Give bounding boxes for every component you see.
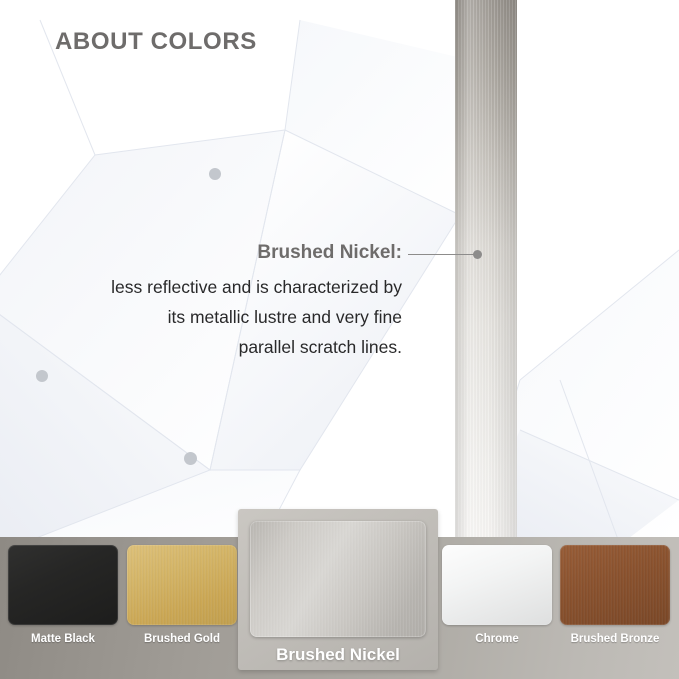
callout-text-block: Brushed Nickel: less reflective and is c…	[16, 240, 402, 362]
page-title: ABOUT COLORS	[55, 28, 257, 56]
swatch-label-brushed-bronze: Brushed Bronze	[560, 633, 670, 645]
swatch-chip-brushed-gold[interactable]	[127, 545, 237, 625]
swatch-brushed-bronze[interactable]: Brushed Bronze	[560, 545, 670, 655]
polygon-node	[184, 452, 197, 465]
swatch-label-chrome: Chrome	[442, 633, 552, 645]
strip-shading-overlay	[455, 0, 517, 538]
callout-leader-line	[408, 254, 478, 255]
swatch-label-brushed-nickel: Brushed Nickel	[238, 645, 438, 665]
swatch-chrome[interactable]: Chrome	[442, 545, 552, 655]
callout-line-3: parallel scratch lines.	[16, 332, 402, 362]
color-swatch-bar: Matte Black Brushed Gold Brushed Nickel …	[0, 537, 679, 679]
callout-description: less reflective and is characterized by …	[16, 272, 402, 362]
polygon-node	[36, 370, 48, 382]
swatch-brushed-gold[interactable]: Brushed Gold	[127, 545, 237, 655]
swatch-chip-chrome[interactable]	[442, 545, 552, 625]
polygon-node	[209, 168, 221, 180]
swatch-chip-matte-black[interactable]	[8, 545, 118, 625]
swatch-chip-brushed-nickel[interactable]	[250, 521, 426, 637]
brushed-nickel-sample-strip	[455, 0, 517, 538]
callout-leader-dot	[473, 250, 482, 259]
callout-line-2: its metallic lustre and very fine	[16, 302, 402, 332]
swatch-label-brushed-gold: Brushed Gold	[127, 633, 237, 645]
swatch-brushed-nickel-selected[interactable]: Brushed Nickel	[238, 509, 438, 670]
swatch-label-matte-black: Matte Black	[8, 633, 118, 645]
swatch-matte-black[interactable]: Matte Black	[8, 545, 118, 655]
callout-line-1: less reflective and is characterized by	[16, 272, 402, 302]
swatch-chip-brushed-bronze[interactable]	[560, 545, 670, 625]
callout-title: Brushed Nickel:	[16, 240, 402, 266]
about-colors-graphic: ABOUT COLORS Brushed Nickel: less reflec…	[0, 0, 679, 679]
